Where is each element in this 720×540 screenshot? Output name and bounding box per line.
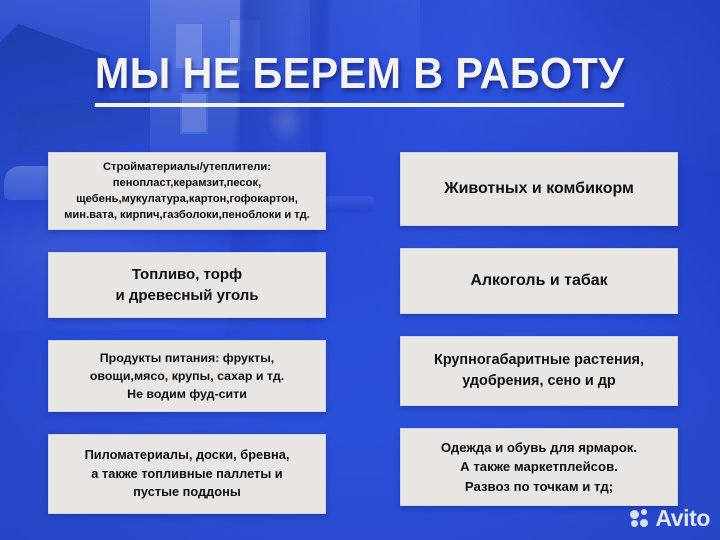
- avito-dot: [630, 510, 639, 519]
- exclusion-card-text: Продукты питания: фрукты, овощи,мясо, кр…: [90, 349, 284, 403]
- exclusion-card-fuel-peat-charcoal: Топливо, торф и древесный уголь: [48, 252, 326, 318]
- poster-title-container: МЫ НЕ БЕРЕМ В РАБОТУ: [0, 52, 720, 107]
- avito-wordmark: Avito: [655, 507, 710, 530]
- exclusion-card-text: Одежда и обувь для ярмарок. А также марк…: [441, 438, 637, 497]
- exclusion-card-text: Стройматериалы/утеплители: пенопласт,кер…: [64, 159, 310, 224]
- avito-dot: [641, 509, 647, 515]
- exclusion-list-left: Стройматериалы/утеплители: пенопласт,кер…: [48, 152, 326, 514]
- avito-dots-icon: [630, 509, 650, 529]
- exclusion-card-lumber-pallets: Пиломатериалы, доски, бревна, а также то…: [48, 434, 326, 514]
- exclusion-card-text: Животных и комбикорм: [444, 178, 634, 200]
- exclusion-card-alcohol-tobacco: Алкоголь и табак: [400, 248, 678, 314]
- promo-poster: МЫ НЕ БЕРЕМ В РАБОТУ Стройматериалы/утеп…: [0, 0, 720, 540]
- exclusion-card-text: Пиломатериалы, доски, бревна, а также то…: [85, 446, 290, 502]
- page-title: МЫ НЕ БЕРЕМ В РАБОТУ: [95, 52, 624, 107]
- exclusion-card-text: Алкоголь и табак: [470, 270, 607, 292]
- exclusion-card-building-materials: Стройматериалы/утеплители: пенопласт,кер…: [48, 152, 326, 230]
- avito-dot: [631, 520, 638, 527]
- exclusion-card-text: Топливо, торф и древесный уголь: [115, 264, 258, 307]
- exclusion-card-large-plants-fertilizer: Крупногабаритные растения, удобрения, се…: [400, 336, 678, 406]
- exclusion-list-right: Животных и комбикорм Алкоголь и табак Кр…: [400, 152, 678, 506]
- exclusion-card-food-products: Продукты питания: фрукты, овощи,мясо, кр…: [48, 340, 326, 412]
- avito-dot: [640, 519, 648, 527]
- exclusion-card-clothes-shoes-fairs: Одежда и обувь для ярмарок. А также марк…: [400, 428, 678, 506]
- avito-watermark: Avito: [630, 507, 710, 530]
- exclusion-card-text: Крупногабаритные растения, удобрения, се…: [434, 350, 644, 392]
- exclusion-card-animals-feed: Животных и комбикорм: [400, 152, 678, 226]
